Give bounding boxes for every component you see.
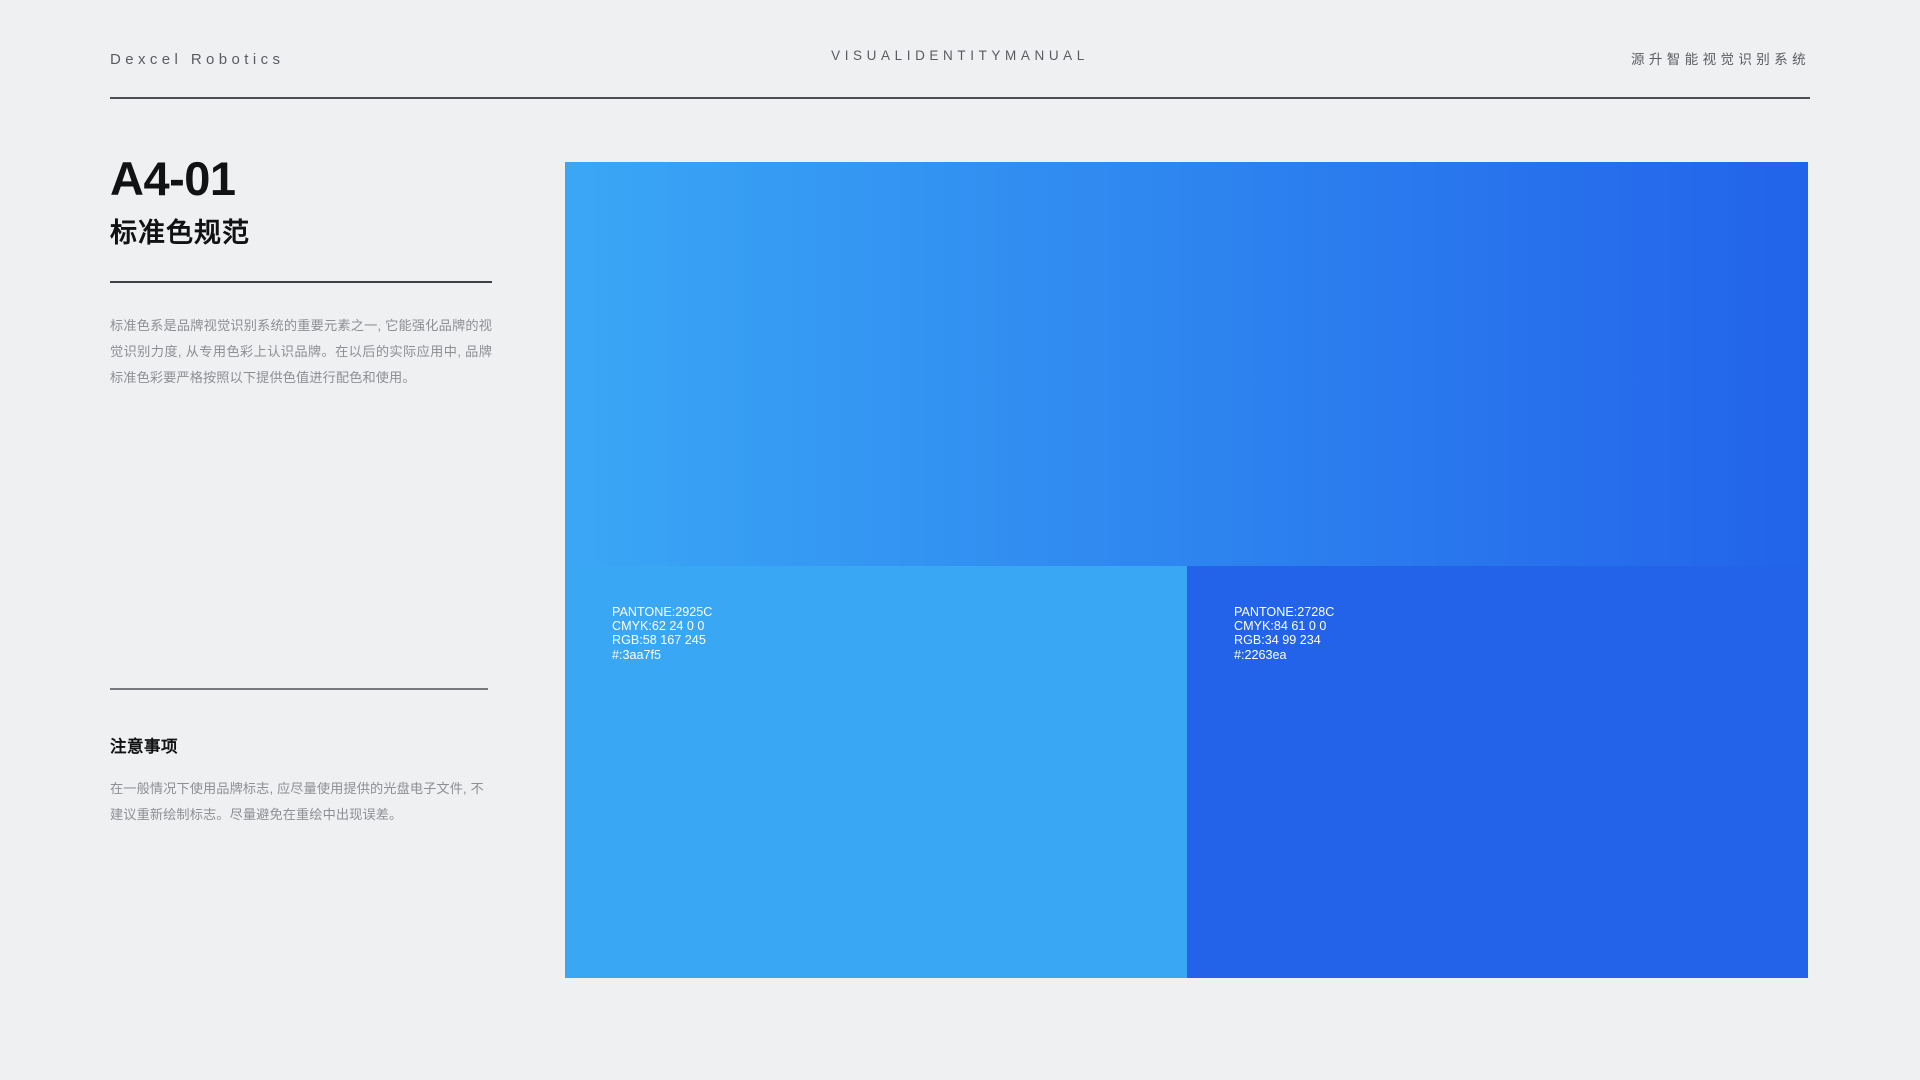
spec-cmyk: CMYK:62 24 0 0 — [612, 620, 712, 633]
color-board: PANTONE:2925C CMYK:62 24 0 0 RGB:58 167 … — [565, 162, 1808, 978]
spec-cmyk: CMYK:84 61 0 0 — [1234, 620, 1334, 633]
header-row: Dexcel Robotics VISUALIDENTITYMANUAL 源升智… — [110, 48, 1810, 74]
brand-name: Dexcel Robotics — [110, 51, 284, 68]
page-title: 标准色规范 — [110, 219, 492, 249]
spec-hex: #:3aa7f5 — [612, 649, 712, 662]
left-info-column: A4-01 标准色规范 标准色系是品牌视觉识别系统的重要元素之一, 它能强化品牌… — [110, 155, 492, 391]
spec-hex: #:2263ea — [1234, 649, 1334, 662]
spec-pantone: PANTONE:2925C — [612, 606, 712, 619]
swatch-row: PANTONE:2925C CMYK:62 24 0 0 RGB:58 167 … — [565, 566, 1808, 978]
notes-divider — [110, 688, 488, 690]
notes-paragraph: 在一般情况下使用品牌标志, 应尽量使用提供的光盘电子文件, 不建议重新绘制标志。… — [110, 776, 492, 828]
notes-block: 注意事项 在一般情况下使用品牌标志, 应尽量使用提供的光盘电子文件, 不建议重新… — [110, 733, 492, 828]
page-header: Dexcel Robotics VISUALIDENTITYMANUAL 源升智… — [110, 48, 1810, 98]
spec-rgb: RGB:58 167 245 — [612, 634, 712, 647]
title-divider — [110, 281, 492, 283]
page-code: A4-01 — [110, 155, 492, 202]
gradient-band — [565, 162, 1808, 566]
notes-heading: 注意事项 — [110, 733, 492, 757]
spec-rgb: RGB:34 99 234 — [1234, 634, 1334, 647]
color-swatch-primary: PANTONE:2925C CMYK:62 24 0 0 RGB:58 167 … — [565, 566, 1187, 978]
system-name: 源升智能视觉识别系统 — [1631, 48, 1810, 68]
manual-page: Dexcel Robotics VISUALIDENTITYMANUAL 源升智… — [0, 0, 1920, 1080]
manual-title: VISUALIDENTITYMANUAL — [831, 48, 1089, 63]
spec-pantone: PANTONE:2728C — [1234, 606, 1334, 619]
color-swatch-secondary: PANTONE:2728C CMYK:84 61 0 0 RGB:34 99 2… — [1187, 566, 1808, 978]
header-divider — [110, 97, 1810, 99]
swatch-specs-primary: PANTONE:2925C CMYK:62 24 0 0 RGB:58 167 … — [612, 606, 712, 663]
swatch-specs-secondary: PANTONE:2728C CMYK:84 61 0 0 RGB:34 99 2… — [1234, 606, 1334, 663]
intro-paragraph: 标准色系是品牌视觉识别系统的重要元素之一, 它能强化品牌的视觉识别力度, 从专用… — [110, 313, 492, 391]
